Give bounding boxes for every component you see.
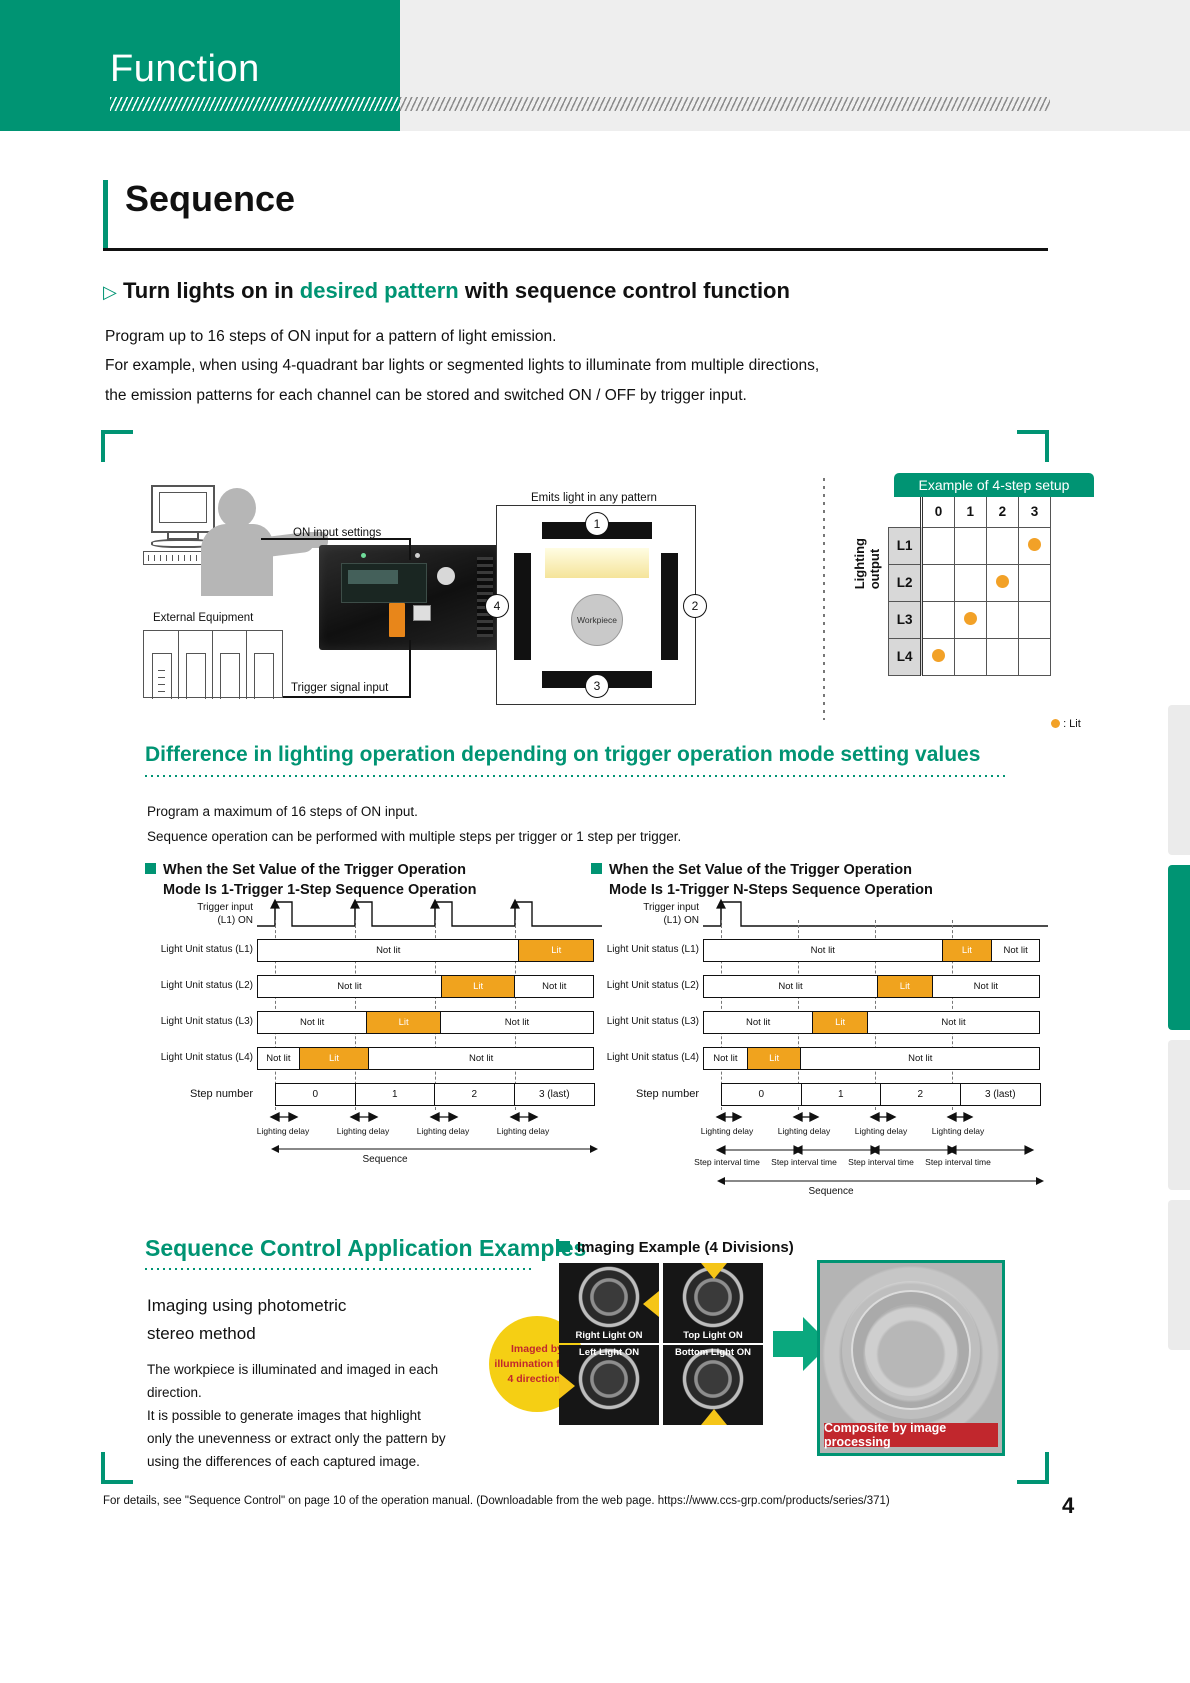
chart1-l2-seg1: Lit (442, 976, 516, 997)
cell-l1-3 (1018, 527, 1050, 564)
operator-figure (196, 488, 281, 593)
chart1-bar-l2: Not lit Lit Not lit (257, 975, 594, 998)
col-header-0: 0 (922, 497, 954, 527)
thumbnail-caption: Top Light ON (663, 1330, 763, 1341)
legend-text: : Lit (1063, 718, 1081, 730)
chart1-trigger-label-line1: Trigger input (105, 902, 253, 913)
light-arrangement-box: Workpiece 1 2 3 4 (496, 505, 696, 705)
chart2-row-label-l1: Light Unit status (L1) (551, 944, 699, 955)
chart2-row-label-l2: Light Unit status (L2) (551, 980, 699, 991)
imaging-example-heading: Imaging Example (4 Divisions) (559, 1238, 794, 1258)
content-panel: ON input settings External Equipment Tri… (101, 430, 1049, 1484)
table-corner-cell (889, 497, 922, 527)
table-row: L4 (889, 638, 1051, 675)
cell-l2-1 (954, 564, 986, 601)
controller-port (413, 605, 431, 621)
plc-terminals (158, 669, 165, 695)
application-subtitle: Imaging using photometric stereo method (147, 1292, 346, 1348)
chart2-l3-seg1: Lit (813, 1012, 868, 1033)
green-square-bullet-icon (145, 863, 156, 874)
chart1-step-number-label: Step number (105, 1088, 253, 1100)
chart2-delay-arrows (703, 1109, 1048, 1125)
header-hatch-green (110, 97, 400, 111)
chart2-l4-seg1: Lit (748, 1048, 802, 1069)
setup-table: 0 1 2 3 L1 L2 (888, 497, 1051, 676)
cell-l2-3 (1018, 564, 1050, 601)
chart1-l1-seg0: Not lit (258, 940, 519, 961)
cell-l2-2 (986, 564, 1018, 601)
direction-arrow-icon (701, 1263, 727, 1279)
external-equipment-label: External Equipment (153, 612, 253, 624)
controller-knob (437, 567, 455, 585)
chart2-step-number-label: Step number (551, 1088, 699, 1100)
chart1-row-label-l4: Light Unit status (L4) (105, 1052, 253, 1063)
trigger-signal-input-label: Trigger signal input (291, 682, 388, 694)
chart1-step-bar: 0 1 2 3 (last) (275, 1083, 595, 1106)
chart2-l2-seg1: Lit (878, 976, 933, 997)
page-title-accent-bar (103, 180, 108, 248)
cell-l1-1 (954, 527, 986, 564)
chart2-bar-l1: Not lit Lit Not lit (703, 939, 1040, 962)
chart2-l4-seg0: Not lit (704, 1048, 748, 1069)
composite-ring (851, 1290, 971, 1410)
chart2-trigger-label-line1: Trigger input (551, 902, 699, 913)
chart1-step-1: 1 (356, 1084, 436, 1105)
application-dotted-rule (145, 1268, 535, 1270)
chart2-l1-seg1: Lit (943, 940, 993, 961)
chart1-title: When the Set Value of the Trigger Operat… (145, 860, 476, 900)
vertical-dotted-separator (823, 478, 825, 720)
cell-l1-2 (986, 527, 1018, 564)
lead-paragraph-1: Program up to 16 steps of ON input for a… (105, 328, 556, 346)
plc-icon (143, 630, 283, 698)
chart1-sequence-label: Sequence (325, 1154, 445, 1165)
light-number-2: 2 (683, 594, 707, 618)
chart2-step-1: 1 (802, 1084, 882, 1105)
chart1-trigger-label-line2: (L1) ON (105, 915, 253, 926)
chart2-step-2: 2 (881, 1084, 961, 1105)
cell-l4-1 (954, 638, 986, 675)
direction-arrow-icon (559, 1373, 575, 1399)
thumbnail-bottom-light: Bottom Light ON (663, 1345, 763, 1425)
chart2-interval-arrows (703, 1144, 1048, 1156)
thumbnail-caption: Right Light ON (559, 1330, 659, 1341)
chart2-trigger-label-line2: (L1) ON (551, 915, 699, 926)
chart1-l2-seg0: Not lit (258, 976, 442, 997)
chart2-bar-l4: Not lit Lit Not lit (703, 1047, 1040, 1070)
lead-heading-part1: Turn lights on in (123, 278, 300, 303)
thumbnail-left-light: Left Light ON (559, 1345, 659, 1425)
thumbnail-image-content (578, 1266, 640, 1328)
chart1-step-0: 0 (276, 1084, 356, 1105)
application-body: The workpiece is illuminated and imaged … (147, 1358, 547, 1473)
corner-bracket-bottom-left (101, 1452, 133, 1484)
chart1-l4-seg0: Not lit (258, 1048, 300, 1069)
bubble-line3: 4 directions (508, 1373, 567, 1385)
header-title: Function (110, 48, 260, 91)
chart2-title-line1: When the Set Value of the Trigger Operat… (609, 862, 912, 878)
plc-module-2 (186, 653, 206, 699)
controller-display-panel (341, 563, 427, 603)
lead-paragraph-2: For example, when using 4-quadrant bar l… (105, 357, 819, 375)
setup-table-tab-label: Example of 4-step setup (894, 473, 1094, 497)
controller-unit-photo (319, 545, 499, 650)
cell-l4-0 (922, 638, 954, 675)
triangle-bullet-icon: ▷ (103, 282, 117, 302)
chart1-step-2: 2 (435, 1084, 515, 1105)
system-diagram: ON input settings External Equipment Tri… (101, 450, 1049, 700)
chart1-delay-label-4: Lighting delay (473, 1126, 573, 1136)
chart2-row-label-l3: Light Unit status (L3) (551, 1016, 699, 1027)
col-header-3: 3 (1018, 497, 1050, 527)
page-title-rule (103, 248, 1048, 251)
direction-arrow-icon (643, 1291, 659, 1317)
operator-head (218, 488, 256, 528)
header-hatch-grey (400, 97, 1050, 111)
col-header-2: 2 (986, 497, 1018, 527)
cell-l3-3 (1018, 601, 1050, 638)
chart1-bar-l1: Not lit Lit (257, 939, 594, 962)
chart2-interval-label-4: Step interval time (900, 1157, 1016, 1167)
timing-chart-1-trigger-n-steps: When the Set Value of the Trigger Operat… (591, 860, 1011, 1220)
controller-connector (389, 603, 405, 637)
table-row: L2 (889, 564, 1051, 601)
chart1-l3-seg0: Not lit (258, 1012, 367, 1033)
chart1-row-label-l2: Light Unit status (L2) (105, 980, 253, 991)
plc-module-4 (254, 653, 274, 699)
wire-vertical-1 (409, 538, 411, 560)
row-header-l4: L4 (889, 638, 922, 675)
light-number-4: 4 (485, 594, 509, 618)
wire-vertical-2 (409, 640, 411, 698)
workpiece-label: Workpiece (571, 594, 623, 646)
lighting-output-axis-label: Lighting output (852, 538, 882, 589)
imaging-example-label: Imaging Example (4 Divisions) (577, 1239, 794, 1256)
page-number: 4 (1062, 1493, 1074, 1519)
composite-image: Composite by image processing (817, 1260, 1005, 1456)
chart1-l4-seg1: Lit (300, 1048, 370, 1069)
edge-tab-2-active[interactable] (1168, 865, 1190, 1030)
legend-dot-icon (1051, 719, 1060, 728)
row-header-l3: L3 (889, 601, 922, 638)
chart2-l1-seg0: Not lit (704, 940, 943, 961)
table-row: L1 (889, 527, 1051, 564)
table-row: L3 (889, 601, 1051, 638)
application-body-line4: only the unevenness or extract only the … (147, 1427, 547, 1450)
page-header: Function (0, 0, 1190, 131)
lit-dot (996, 575, 1009, 588)
chart2-l3-seg0: Not lit (704, 1012, 813, 1033)
application-subtitle-line2: stereo method (147, 1320, 346, 1348)
green-square-bullet-icon (591, 863, 602, 874)
application-body-line2: direction. (147, 1381, 547, 1404)
difference-paragraph-1: Program a maximum of 16 steps of ON inpu… (147, 804, 418, 819)
cell-l4-3 (1018, 638, 1050, 675)
bubble-line1-accent: Imaged by (511, 1343, 563, 1355)
edge-tab-3[interactable] (1168, 1040, 1190, 1190)
chart2-l4-seg2: Not lit (801, 1048, 1039, 1069)
chart1-row-label-l1: Light Unit status (L1) (105, 944, 253, 955)
emits-light-label: Emits light in any pattern (531, 492, 657, 504)
chart1-title-line1: When the Set Value of the Trigger Operat… (163, 862, 466, 878)
footer-note: For details, see "Sequence Control" on p… (103, 1495, 890, 1507)
edge-tab-4[interactable] (1168, 1200, 1190, 1350)
operator-body (201, 524, 273, 596)
composite-label: Composite by image processing (824, 1423, 998, 1447)
timing-chart-1-trigger-1-step: When the Set Value of the Trigger Operat… (145, 860, 565, 1180)
green-square-bullet-icon (559, 1241, 570, 1252)
chart1-bar-l3: Not lit Lit Not lit (257, 1011, 594, 1034)
difference-section-heading: Difference in lighting operation dependi… (145, 743, 980, 767)
application-subtitle-line1: Imaging using photometric (147, 1292, 346, 1320)
application-body-line1: The workpiece is illuminated and imaged … (147, 1358, 547, 1381)
lit-dot (932, 649, 945, 662)
lead-heading-accent: desired pattern (300, 278, 459, 303)
chart2-l2-seg0: Not lit (704, 976, 878, 997)
light-glow (545, 548, 649, 578)
thumbnail-top-light: Top Light ON (663, 1263, 763, 1343)
bar-light-left (514, 553, 531, 660)
lit-dot (964, 612, 977, 625)
chart2-l1-seg2: Not lit (992, 940, 1039, 961)
application-examples-heading: Sequence Control Application Examples (145, 1235, 586, 1262)
light-number-1: 1 (585, 512, 609, 536)
plc-module-3 (220, 653, 240, 699)
cell-l1-0 (922, 527, 954, 564)
direction-arrow-icon (701, 1409, 727, 1425)
cell-l3-0 (922, 601, 954, 638)
cell-l3-1 (954, 601, 986, 638)
page-title: Sequence (125, 178, 295, 220)
chart2-delay-label-4: Lighting delay (908, 1126, 1008, 1136)
thumbnail-caption: Left Light ON (559, 1347, 659, 1358)
cell-l3-2 (986, 601, 1018, 638)
chart2-l2-seg2: Not lit (933, 976, 1039, 997)
lead-heading: ▷ Turn lights on in desired pattern with… (103, 278, 790, 304)
application-body-line5: using the differences of each captured i… (147, 1450, 547, 1473)
chart2-step-0: 0 (722, 1084, 802, 1105)
chart1-bar-l4: Not lit Lit Not lit (257, 1047, 594, 1070)
lit-dot (1028, 538, 1041, 551)
chart2-bar-l3: Not lit Lit Not lit (703, 1011, 1040, 1034)
chart1-row-label-l3: Light Unit status (L3) (105, 1016, 253, 1027)
setup-table-legend: : Lit (1051, 718, 1081, 730)
chart2-sequence-label: Sequence (771, 1186, 891, 1197)
lead-paragraph-3: the emission patterns for each channel c… (105, 387, 747, 405)
light-number-3: 3 (585, 674, 609, 698)
edge-tab-1[interactable] (1168, 705, 1190, 855)
difference-dotted-rule (145, 775, 1005, 777)
chart1-delay-arrows (257, 1109, 602, 1125)
controller-display (348, 570, 398, 584)
row-header-l1: L1 (889, 527, 922, 564)
thumbnail-caption: Bottom Light ON (663, 1347, 763, 1358)
chart2-bar-l2: Not lit Lit Not lit (703, 975, 1040, 998)
thumbnail-right-light: Right Light ON (559, 1263, 659, 1343)
lead-heading-part2: with sequence control function (459, 278, 790, 303)
chart1-l3-seg1: Lit (367, 1012, 441, 1033)
application-body-line3: It is possible to generate images that h… (147, 1404, 547, 1427)
bar-light-right (661, 553, 678, 660)
chart2-step-3: 3 (last) (961, 1084, 1041, 1105)
difference-paragraph-2: Sequence operation can be performed with… (147, 829, 681, 844)
table-header-row: 0 1 2 3 (889, 497, 1051, 527)
chart2-l3-seg2: Not lit (868, 1012, 1039, 1033)
col-header-1: 1 (954, 497, 986, 527)
wire-pc-to-controller (261, 538, 411, 540)
cell-l4-2 (986, 638, 1018, 675)
row-header-l2: L2 (889, 564, 922, 601)
chart2-title: When the Set Value of the Trigger Operat… (591, 860, 933, 900)
wire-plc-to-controller (283, 696, 411, 698)
cell-l2-0 (922, 564, 954, 601)
chart2-row-label-l4: Light Unit status (L4) (551, 1052, 699, 1063)
chart2-step-bar: 0 1 2 3 (last) (721, 1083, 1041, 1106)
corner-bracket-bottom-right (1017, 1452, 1049, 1484)
